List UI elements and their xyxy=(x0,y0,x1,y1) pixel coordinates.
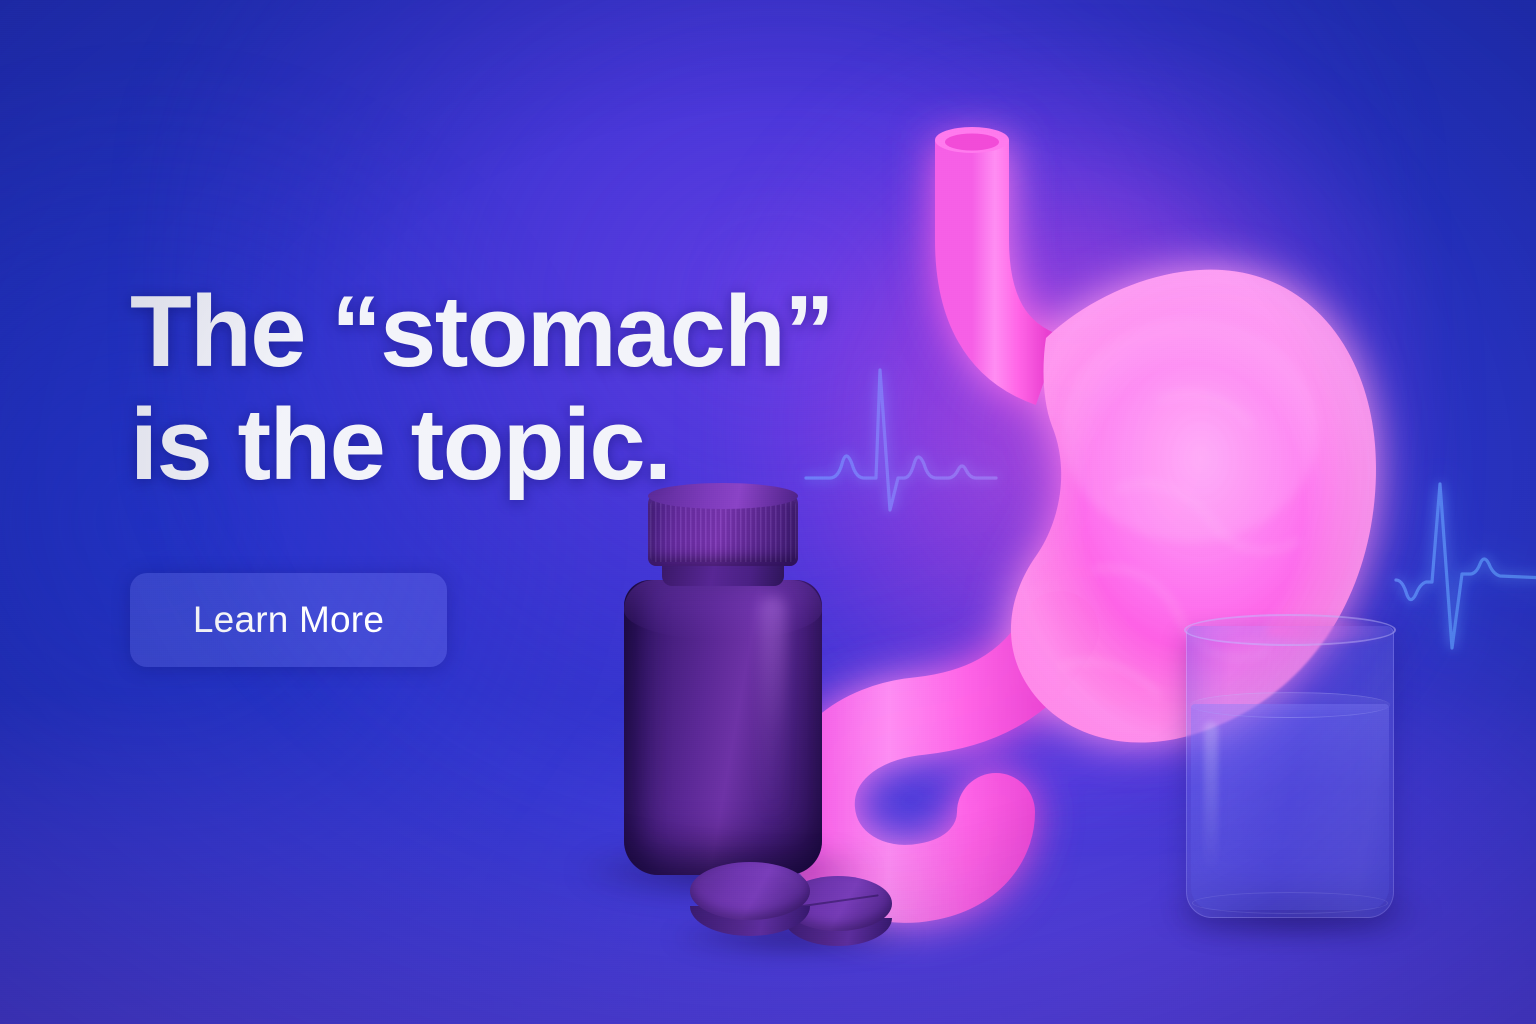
water-glass-waterline xyxy=(1190,692,1390,718)
water-glass-highlight xyxy=(1204,722,1218,872)
pill-bottle-highlight xyxy=(760,596,786,826)
water-glass-base xyxy=(1192,892,1388,914)
hero-copy: The “stomach” is the topic. xyxy=(130,276,890,502)
pill-bottle xyxy=(612,492,832,882)
water-glass-pink-reflection xyxy=(1266,620,1396,642)
tablet-face xyxy=(690,862,810,920)
pill-bottle-shoulder xyxy=(624,580,822,640)
page-title: The “stomach” is the topic. xyxy=(130,276,890,502)
pill-bottle-cap-ribs xyxy=(650,500,796,562)
hero-banner: The “stomach” is the topic. Learn More xyxy=(0,0,1536,1024)
water-glass xyxy=(1186,626,1394,918)
tablet-front xyxy=(690,862,810,936)
water-glass-liquid xyxy=(1191,704,1389,910)
learn-more-button[interactable]: Learn More xyxy=(130,573,447,667)
